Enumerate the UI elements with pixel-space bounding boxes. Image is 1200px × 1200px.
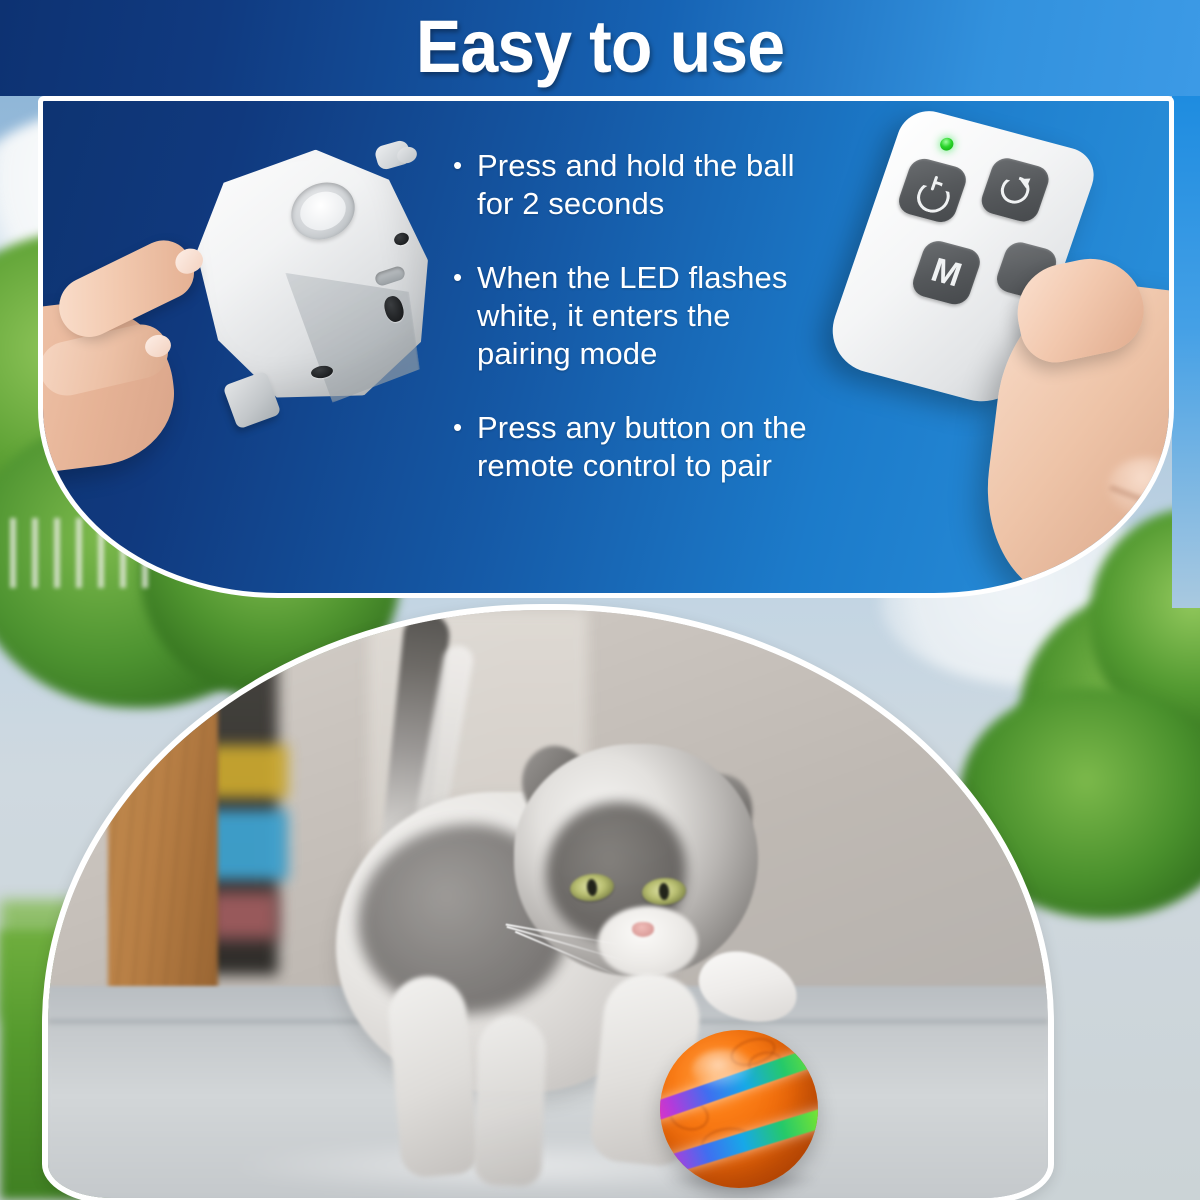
instruction-panel-wrapper: Press and hold the ball for 2 seconds Wh… bbox=[0, 88, 1200, 608]
panel-edge-strip bbox=[1172, 96, 1200, 608]
ball-sphere bbox=[660, 1030, 818, 1188]
knuckle bbox=[1125, 584, 1174, 598]
bullet-item-2: When the LED flashes white, it enters th… bbox=[451, 259, 823, 373]
knuckle bbox=[1153, 513, 1174, 588]
ball-highlight bbox=[692, 1049, 755, 1090]
background-object bbox=[208, 892, 278, 939]
kitten-photo bbox=[42, 604, 1054, 1200]
kitten-hind-leg bbox=[473, 1015, 547, 1187]
smart-toy-ball bbox=[660, 1030, 818, 1188]
pressing-hand bbox=[38, 221, 243, 481]
background-object bbox=[208, 745, 288, 798]
header-banner: Easy to use bbox=[0, 0, 1200, 96]
page-title: Easy to use bbox=[48, 2, 1152, 92]
instruction-panel: Press and hold the ball for 2 seconds Wh… bbox=[38, 96, 1174, 598]
remote-led-indicator bbox=[938, 136, 955, 152]
remote-control-scene: M bbox=[813, 105, 1174, 598]
holding-hand bbox=[909, 165, 1174, 598]
kitten-nose bbox=[632, 922, 654, 937]
product-infographic: Easy to use bbox=[0, 0, 1200, 1200]
bullet-item-1: Press and hold the ball for 2 seconds bbox=[451, 147, 823, 223]
bullet-item-3: Press any button on the remote control t… bbox=[451, 409, 823, 485]
instruction-bullet-list: Press and hold the ball for 2 seconds Wh… bbox=[451, 147, 823, 485]
